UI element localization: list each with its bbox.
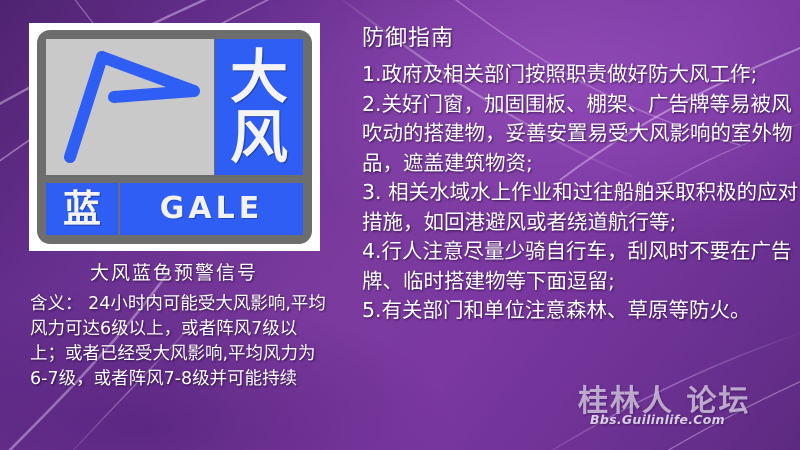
guide-title: 防御指南 [362, 20, 454, 52]
sign-level-cell: 蓝 [46, 183, 118, 235]
sign-level-wrap: 蓝 [46, 183, 118, 235]
right-column: 防御指南 1.政府及相关部门按照职责做好防大风工作; 2.关好门窗，加固围板、棚… [360, 0, 800, 450]
signal-meaning-text: 含义： 24小时内可能受大风影响,平均风力可达6级以上，或者阵风7级以上；或者已… [30, 292, 330, 392]
signal-title: 大风蓝色预警信号 [0, 258, 348, 285]
sign-flag-cell [46, 39, 214, 175]
sign-hazard-stack: 大 风 [215, 39, 303, 175]
sign-hazard-char-bottom: 风 [230, 108, 288, 166]
sign-hazard-char-top: 大 [230, 48, 288, 106]
sign-level-char: 蓝 [63, 190, 101, 228]
guide-body-text: 1.政府及相关部门按照职责做好防大风工作; 2.关好门窗，加固围板、棚架、广告牌… [362, 60, 800, 326]
sign-frame: 大 风 蓝 GALE [37, 30, 312, 244]
wind-flag-icon [46, 39, 214, 175]
left-column: 大 风 蓝 GALE 大风蓝色 [0, 0, 348, 450]
sign-english-cell: GALE [120, 183, 303, 235]
poster-root: 大 风 蓝 GALE 大风蓝色 [0, 0, 800, 450]
gale-warning-sign: 大 风 蓝 GALE [29, 23, 320, 251]
sign-grid: 大 风 蓝 GALE [46, 39, 303, 235]
sign-english-label: GALE [160, 194, 263, 224]
sign-hazard-cell: 大 风 [215, 39, 303, 175]
